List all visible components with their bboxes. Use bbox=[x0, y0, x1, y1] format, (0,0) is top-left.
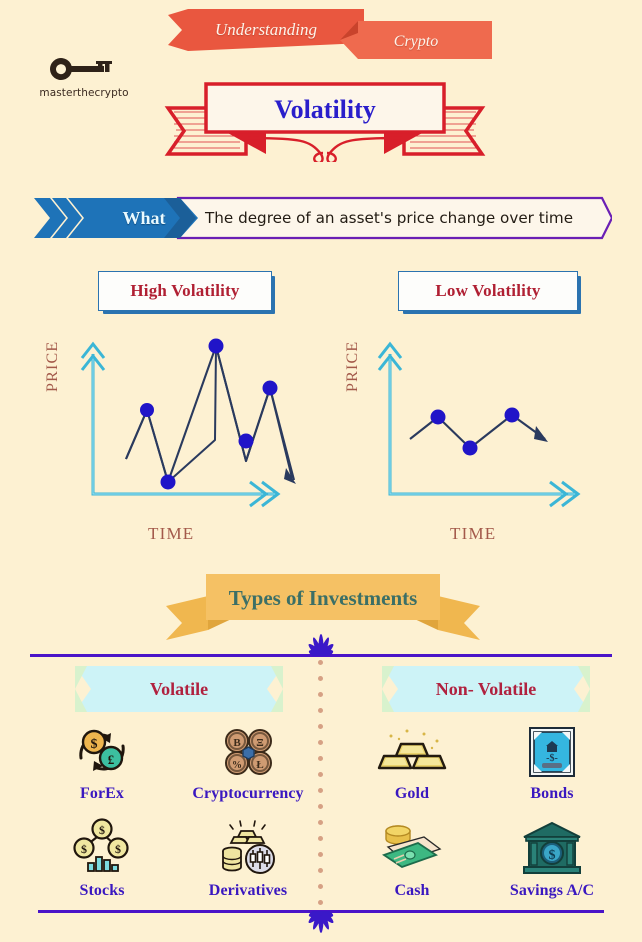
svg-text:-$-: -$- bbox=[546, 753, 558, 764]
ribbon-understanding: Understanding bbox=[168, 9, 364, 51]
svg-text:$: $ bbox=[81, 842, 87, 856]
svg-text:Ξ: Ξ bbox=[256, 737, 263, 749]
category-label-non-volatile: Non- Volatile bbox=[382, 666, 590, 712]
item-derivatives[interactable]: Derivatives bbox=[178, 815, 318, 900]
item-label-derivatives: Derivatives bbox=[178, 882, 318, 900]
item-bonds[interactable]: -$- Bonds bbox=[482, 718, 622, 803]
chart-high-xlabel: TIME bbox=[148, 524, 194, 544]
investment-items-grid: $ £ ForEx bbox=[30, 718, 612, 906]
item-gold[interactable]: Gold bbox=[342, 718, 482, 803]
category-banner-non-volatile: Non- Volatile bbox=[382, 666, 590, 712]
category-banner-volatile: Volatile bbox=[75, 666, 283, 712]
bond-certificate-icon: -$- bbox=[482, 718, 622, 780]
page-title: Volatility bbox=[160, 88, 490, 132]
item-stocks[interactable]: $ $ $ Stocks bbox=[32, 815, 172, 900]
candlestick-coins-icon bbox=[178, 815, 318, 877]
chart-low-xlabel: TIME bbox=[450, 524, 496, 544]
volatility-title-ribbon: Volatility bbox=[160, 70, 490, 162]
chart-low-volatility: Low Volatility PRICE TIME bbox=[340, 262, 640, 552]
definition-text: The degree of an asset's price change ov… bbox=[205, 198, 590, 238]
types-banner-label: Types of Investments bbox=[148, 576, 498, 620]
definition-label: What bbox=[98, 198, 190, 238]
brand-logo: masterthecrypto bbox=[28, 52, 140, 99]
chart-high-ylabel: PRICE bbox=[44, 341, 62, 392]
item-label-savings-account: Savings A/C bbox=[482, 882, 622, 900]
ribbon-crypto-label: Crypto bbox=[340, 21, 492, 63]
key-icon bbox=[28, 52, 140, 86]
svg-text:B: B bbox=[233, 737, 241, 749]
fan-ornament-bottom bbox=[297, 911, 345, 935]
cash-banknotes-icon bbox=[342, 815, 482, 877]
svg-text:$: $ bbox=[99, 823, 105, 837]
currency-exchange-icon: $ £ bbox=[32, 718, 172, 780]
svg-text:$: $ bbox=[549, 848, 556, 863]
chart-high-plot bbox=[40, 262, 340, 552]
ribbon-crypto: Crypto bbox=[340, 21, 492, 63]
brand-name: masterthecrypto bbox=[28, 87, 140, 99]
stock-chart-coins-icon: $ $ $ bbox=[32, 815, 172, 877]
svg-text:%: % bbox=[232, 760, 242, 771]
definition-bar: What The degree of an asset's price chan… bbox=[30, 194, 612, 242]
item-cryptocurrency[interactable]: B Ξ % Ł Cryptocurrency bbox=[178, 718, 318, 803]
chart-low-plot bbox=[340, 262, 640, 552]
item-label-stocks: Stocks bbox=[32, 882, 172, 900]
bank-building-icon: $ bbox=[482, 815, 622, 877]
chart-high-volatility: High Volatility PRICE TIME bbox=[40, 262, 340, 552]
chart-low-ylabel: PRICE bbox=[344, 341, 362, 392]
item-savings-account[interactable]: $ Savings A/C bbox=[482, 815, 622, 900]
infographic-page: masterthecrypto Understanding Crypto bbox=[0, 0, 642, 942]
svg-text:£: £ bbox=[108, 752, 115, 767]
gold-bars-icon bbox=[342, 718, 482, 780]
fan-ornament-top bbox=[297, 632, 345, 656]
item-label-gold: Gold bbox=[342, 785, 482, 803]
item-cash[interactable]: Cash bbox=[342, 815, 482, 900]
ribbon-understanding-label: Understanding bbox=[168, 9, 364, 51]
item-forex[interactable]: $ £ ForEx bbox=[32, 718, 172, 803]
item-label-forex: ForEx bbox=[32, 785, 172, 803]
svg-text:$: $ bbox=[115, 842, 121, 856]
item-label-bonds: Bonds bbox=[482, 785, 622, 803]
item-label-cryptocurrency: Cryptocurrency bbox=[178, 785, 318, 803]
category-label-volatile: Volatile bbox=[75, 666, 283, 712]
svg-text:Ł: Ł bbox=[256, 759, 263, 771]
crypto-coins-icon: B Ξ % Ł bbox=[178, 718, 318, 780]
item-label-cash: Cash bbox=[342, 882, 482, 900]
svg-text:$: $ bbox=[91, 737, 98, 752]
